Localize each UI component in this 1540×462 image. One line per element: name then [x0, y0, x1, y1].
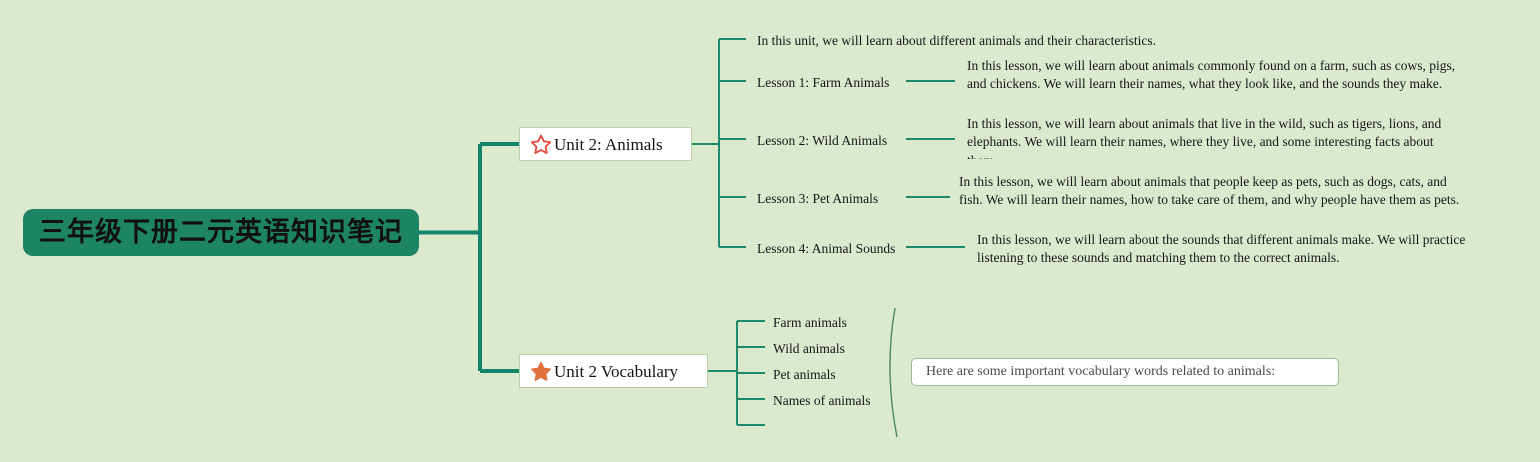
branch-node-unit-animals[interactable]: Unit 2: Animals [519, 127, 692, 161]
branch-node-label: Unit 2 Vocabulary [554, 363, 678, 380]
lesson-title-3[interactable]: Lesson 3: Pet Animals [757, 190, 878, 208]
vocabulary-item[interactable]: Wild animals [773, 340, 845, 358]
lesson-title-4[interactable]: Lesson 4: Animal Sounds [757, 240, 895, 258]
mindmap-canvas: 三年级下册二元英语知识笔记 Unit 2: Animals Unit 2 Voc… [0, 0, 1540, 462]
root-node-label: 三年级下册二元英语知识笔记 [39, 219, 403, 246]
lesson-description-2: In this lesson, we will learn about anim… [967, 115, 1467, 159]
lesson-description-1: In this lesson, we will learn about anim… [967, 57, 1465, 101]
unit-overview-text: In this unit, we will learn about differ… [757, 32, 1156, 50]
star-outline-icon [530, 133, 552, 155]
vocabulary-note-text: Here are some important vocabulary words… [926, 365, 1275, 379]
lesson-description-3: In this lesson, we will learn about anim… [959, 173, 1467, 217]
star-filled-icon [530, 360, 552, 382]
lesson-title-1[interactable]: Lesson 1: Farm Animals [757, 74, 889, 92]
vocabulary-note-box[interactable]: Here are some important vocabulary words… [911, 358, 1339, 386]
lesson-description-4: In this lesson, we will learn about the … [977, 231, 1467, 269]
lesson-title-2[interactable]: Lesson 2: Wild Animals [757, 132, 887, 150]
vocabulary-item[interactable]: Pet animals [773, 366, 836, 384]
vocabulary-item[interactable]: Names of animals [773, 392, 870, 410]
branch-node-label: Unit 2: Animals [554, 136, 663, 153]
root-node[interactable]: 三年级下册二元英语知识笔记 [23, 209, 419, 256]
branch-node-unit-vocabulary[interactable]: Unit 2 Vocabulary [519, 354, 708, 388]
vocabulary-item[interactable]: Farm animals [773, 314, 847, 332]
